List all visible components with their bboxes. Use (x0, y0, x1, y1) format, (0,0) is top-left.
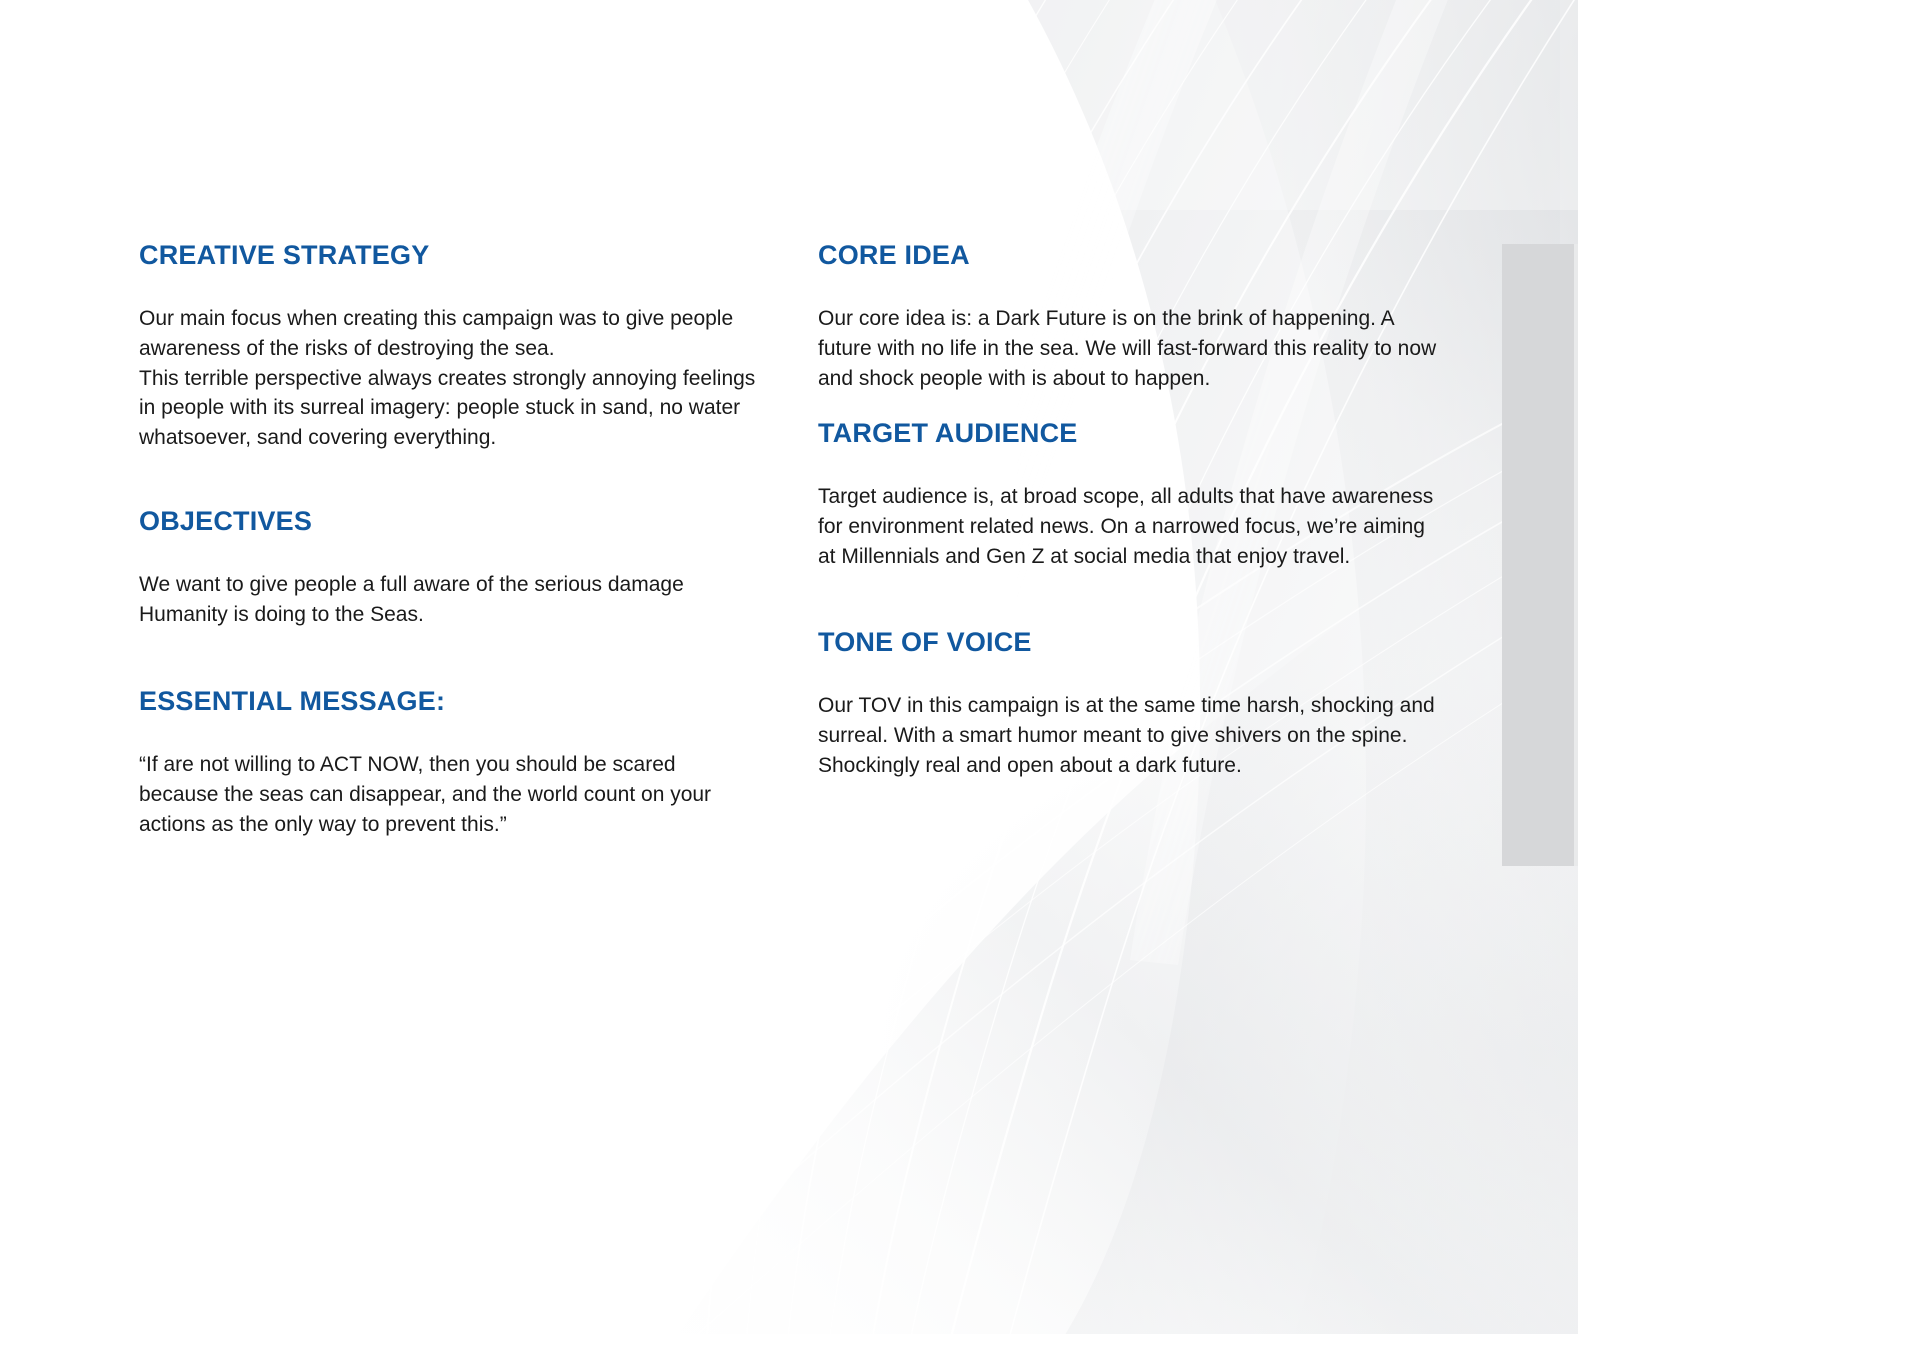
section-title-target-audience: TARGET AUDIENCE (818, 418, 1458, 449)
section-essential-message-heading-wrap: ESSENTIAL MESSAGE: (139, 686, 779, 717)
section-target-audience-body-wrap: Target audience is, at broad scope, all … (818, 482, 1458, 571)
slide-canvas: CREATIVE STRATEGY Our main focus when cr… (0, 0, 1920, 1358)
section-creative-strategy-body-wrap: Our main focus when creating this campai… (139, 304, 779, 453)
section-essential-message-body-wrap: “If are not willing to ACT NOW, then you… (139, 750, 779, 839)
section-title-objectives: OBJECTIVES (139, 506, 779, 537)
section-title-core-idea: CORE IDEA (818, 240, 1458, 271)
section-body-essential-message: “If are not willing to ACT NOW, then you… (139, 750, 759, 839)
section-tone-of-voice-body-wrap: Our TOV in this campaign is at the same … (818, 691, 1458, 780)
section-core-idea-heading-wrap: CORE IDEA (818, 240, 1458, 271)
section-tone-of-voice-heading-wrap: TONE OF VOICE (818, 627, 1458, 658)
section-title-tone-of-voice: TONE OF VOICE (818, 627, 1458, 658)
section-creative-strategy-heading-wrap: CREATIVE STRATEGY (139, 240, 779, 271)
section-body-creative-strategy: Our main focus when creating this campai… (139, 304, 759, 453)
section-body-tone-of-voice: Our TOV in this campaign is at the same … (818, 691, 1443, 780)
section-target-audience-heading-wrap: TARGET AUDIENCE (818, 418, 1458, 449)
section-title-essential-message: ESSENTIAL MESSAGE: (139, 686, 779, 717)
section-objectives-body-wrap: We want to give people a full aware of t… (139, 570, 779, 630)
section-body-objectives: We want to give people a full aware of t… (139, 570, 759, 630)
section-core-idea-body-wrap: Our core idea is: a Dark Future is on th… (818, 304, 1458, 393)
section-body-target-audience: Target audience is, at broad scope, all … (818, 482, 1443, 571)
section-body-core-idea: Our core idea is: a Dark Future is on th… (818, 304, 1443, 393)
slide-content: CREATIVE STRATEGY Our main focus when cr… (0, 0, 1920, 1358)
section-objectives-heading-wrap: OBJECTIVES (139, 506, 779, 537)
section-title-creative-strategy: CREATIVE STRATEGY (139, 240, 779, 271)
